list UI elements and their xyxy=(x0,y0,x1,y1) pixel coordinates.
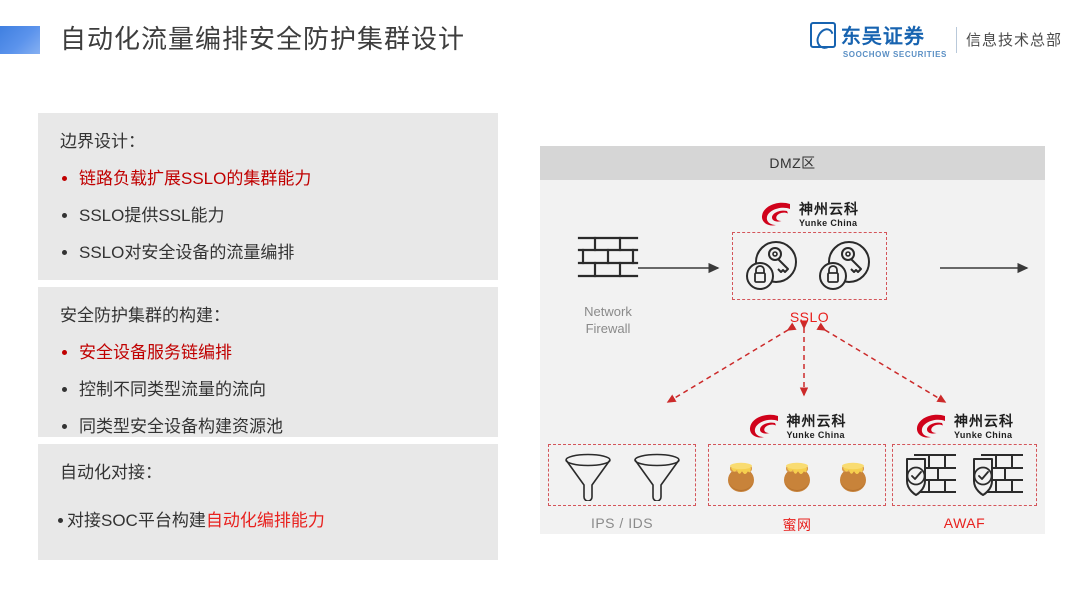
panel-heading: 自动化对接： xyxy=(56,458,480,488)
key-lock-icon xyxy=(817,238,875,294)
list-item: SSLO提供SSL能力 xyxy=(56,201,480,231)
brand-department: 信息技术总部 xyxy=(966,29,1062,50)
group-honeynet: 神州云科 Yunke China xyxy=(708,410,886,535)
list-item-label-emphasis: 自动化编排能力 xyxy=(206,506,325,536)
page-title: 自动化流量编排安全防护集群设计 xyxy=(60,22,465,56)
vendor-name-cn: 神州云科 xyxy=(787,415,847,429)
list-item: SSLO对安全设备的流量编排 xyxy=(56,238,480,268)
vendor-text: 神州云科 Yunke China xyxy=(954,415,1014,440)
honey-pot-icon xyxy=(724,457,758,493)
group-awaf: 神州云科 Yunke China xyxy=(892,410,1037,531)
vendor-name-cn: 神州云科 xyxy=(954,415,1014,429)
list-item-label: 对接SOC平台构建 xyxy=(67,506,206,536)
bullet-panel-automation: 自动化对接： 对接SOC平台构建 自动化编排能力 xyxy=(38,444,498,560)
vendor-text: 神州云科 Yunke China xyxy=(787,415,847,440)
group-ips-ids: IPS / IDS xyxy=(548,444,696,531)
soochow-logo-icon xyxy=(810,22,836,48)
bullet-panel-boundary-design: 边界设计： 链路负载扩展SSLO的集群能力 SSLO提供SSL能力 SSLO对安… xyxy=(38,113,498,280)
vendor-text: 神州云科 Yunke China xyxy=(799,203,859,228)
shield-wall-icon xyxy=(903,449,959,501)
brick-wall-icon xyxy=(577,232,639,284)
panel-heading: 安全防护集群的构建： xyxy=(56,301,480,331)
key-lock-icon xyxy=(744,238,802,294)
bullet-dot-icon xyxy=(58,518,63,523)
yunke-swoosh-icon xyxy=(748,413,782,441)
brand-logo: 东吴证券 SOOCHOW SECURITIES 信息技术总部 xyxy=(810,20,1062,59)
funnel-icon xyxy=(631,449,683,501)
title-accent-bar xyxy=(0,26,40,54)
yunke-swoosh-icon xyxy=(915,413,949,441)
list-item: 对接SOC平台构建 自动化编排能力 xyxy=(56,506,480,536)
bullet-dot-icon xyxy=(62,424,67,429)
honey-pot-icon xyxy=(780,457,814,493)
brand-divider xyxy=(956,27,957,53)
vendor-logo-yunke: 神州云科 Yunke China xyxy=(732,198,887,232)
brand-top-row: 东吴证券 xyxy=(810,20,925,49)
bullet-dot-icon xyxy=(62,176,67,181)
vendor-name-en: Yunke China xyxy=(799,219,857,228)
vendor-logo-yunke: 神州云科 Yunke China xyxy=(708,410,886,444)
vendor-name-cn: 神州云科 xyxy=(799,203,859,217)
awaf-node-box xyxy=(892,444,1037,506)
yunke-swoosh-icon xyxy=(760,201,794,229)
list-item: 同类型安全设备构建资源池 xyxy=(56,412,480,442)
vendor-name-en: Yunke China xyxy=(954,431,1012,440)
shield-wall-icon xyxy=(970,449,1026,501)
list-item-label: 安全设备服务链编排 xyxy=(79,338,232,368)
bullet-dot-icon xyxy=(62,213,67,218)
list-item-label: SSLO提供SSL能力 xyxy=(79,201,225,231)
bullet-dot-icon xyxy=(62,350,67,355)
sslo-node: 神州云科 Yunke China xyxy=(732,198,887,325)
list-item: 控制不同类型流量的流向 xyxy=(56,375,480,405)
dmz-zone-label: DMZ区 xyxy=(769,153,815,173)
slide: 自动化流量编排安全防护集群设计 东吴证券 SOOCHOW SECURITIES … xyxy=(0,0,1080,608)
diagram-body: Network Firewall 神州云科 Yunke China xyxy=(540,180,1045,534)
honeynet-node-box xyxy=(708,444,886,506)
list-item: 链路负载扩展SSLO的集群能力 xyxy=(56,164,480,194)
funnel-icon xyxy=(562,449,614,501)
list-item: 安全设备服务链编排 xyxy=(56,338,480,368)
list-item-label: 同类型安全设备构建资源池 xyxy=(79,412,283,442)
sslo-node-box xyxy=(732,232,887,300)
network-firewall-node: Network Firewall xyxy=(554,232,662,337)
brand-name-en: SOOCHOW SECURITIES xyxy=(843,50,947,59)
list-item-label: SSLO对安全设备的流量编排 xyxy=(79,238,294,268)
sslo-label: SSLO xyxy=(732,309,887,325)
bullet-panel-cluster-build: 安全防护集群的构建： 安全设备服务链编排 控制不同类型流量的流向 同类型安全设备… xyxy=(38,287,498,437)
vendor-name-en: Yunke China xyxy=(787,431,845,440)
panel-heading: 边界设计： xyxy=(56,127,480,157)
architecture-diagram: DMZ区 xyxy=(540,146,1045,534)
honey-pot-icon xyxy=(836,457,870,493)
honeynet-label: 蜜网 xyxy=(708,515,886,535)
list-item-label: 链路负载扩展SSLO的集群能力 xyxy=(79,164,311,194)
bullet-dot-icon xyxy=(62,250,67,255)
network-firewall-label: Network Firewall xyxy=(554,303,662,337)
bullet-dot-icon xyxy=(62,387,67,392)
ips-ids-label: IPS / IDS xyxy=(548,515,696,531)
awaf-label: AWAF xyxy=(892,515,1037,531)
vendor-logo-yunke: 神州云科 Yunke China xyxy=(892,410,1037,444)
brand-name-cn: 东吴证券 xyxy=(841,20,925,49)
ips-ids-node-box xyxy=(548,444,696,506)
list-item-label: 控制不同类型流量的流向 xyxy=(79,375,266,405)
brand-mark: 东吴证券 SOOCHOW SECURITIES xyxy=(810,20,947,59)
dmz-zone-header: DMZ区 xyxy=(540,146,1045,180)
